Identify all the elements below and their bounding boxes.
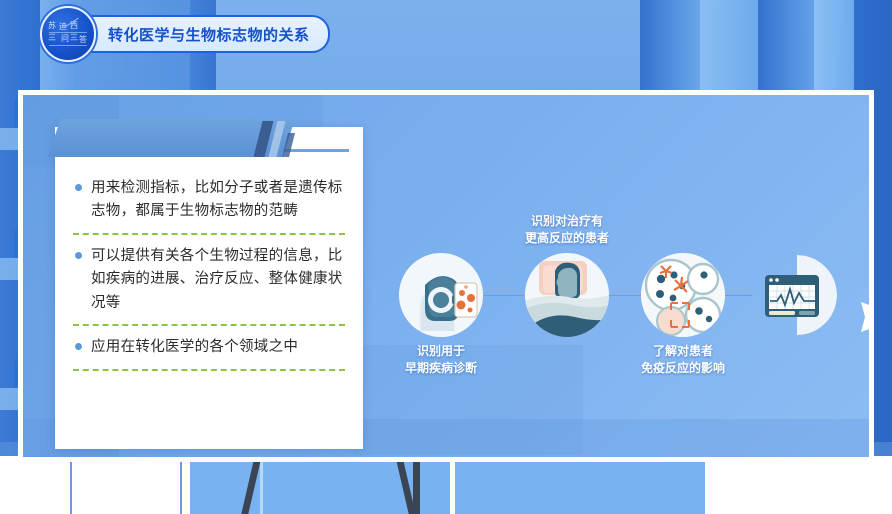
header-bar: 苏 迪 西 三 问 三 答 转化医学与生物标志物的关系 xyxy=(40,14,330,54)
list-item: 用来检测指标，比如分子或者是遗传标志物，都属于生物标志物的范畴 xyxy=(71,167,347,233)
easel-leg-center xyxy=(413,456,420,514)
brand-logo-icon: 苏 迪 西 三 问 三 答 xyxy=(40,6,96,62)
logo-glyph-group: 苏 迪 西 三 问 三 答 xyxy=(48,21,88,47)
bullet-dot-icon xyxy=(75,252,82,259)
slide-canvas: 苏 迪 西 三 问 三 答 转化医学与生物标志物的关系 xyxy=(0,0,892,514)
page-title: 转化医学与生物标志物的关系 xyxy=(108,24,310,45)
patient-bed-svg xyxy=(525,253,609,337)
slide-title-pill: 转化医学与生物标志物的关系 xyxy=(74,15,330,53)
head-scan-svg xyxy=(399,253,483,337)
logo-char-0: 苏 xyxy=(48,22,56,30)
logo-char-4: 问 xyxy=(61,35,69,43)
immune-cells-svg xyxy=(641,253,725,337)
floor-tile-2 xyxy=(180,456,182,514)
bullet-dot-icon xyxy=(75,184,82,191)
floor-block-3 xyxy=(260,456,263,514)
bullet-dot-icon xyxy=(75,343,82,350)
patient-in-bed-icon xyxy=(525,253,609,337)
bullet-text: 应用在转化医学的各个领域之中 xyxy=(91,336,298,359)
bullet-text: 用来检测指标，比如分子或者是遗传标志物，都属于生物标志物的范畴 xyxy=(91,177,347,224)
floor-tile-1 xyxy=(70,456,72,514)
immune-cells-icon xyxy=(641,253,725,337)
bullet-text: 可以提供有关各个生物过程的信息，比如疾病的进展、治疗反应、整体健康状况等 xyxy=(91,245,347,315)
logo-char-3: 三 xyxy=(48,34,56,42)
monitor-ecg-icon xyxy=(757,255,837,335)
illustration-label-0: 识别用于 早期疾病诊断 xyxy=(387,343,495,378)
monitor-ecg-svg xyxy=(757,255,837,335)
illustration-label-2: 了解对患者 免疫反应的影响 xyxy=(625,343,741,378)
list-item: 应用在转化医学的各个领域之中 xyxy=(71,326,347,368)
divider-3 xyxy=(73,369,345,371)
floor-block-2 xyxy=(455,456,705,514)
logo-rule-2 xyxy=(49,45,87,46)
card-body: 用来检测指标，比如分子或者是遗传标志物，都属于生物标志物的范畴 可以提供有关各个… xyxy=(55,167,363,449)
card-header-tail xyxy=(283,149,349,152)
list-item: 可以提供有关各个生物过程的信息，比如疾病的进展、治疗反应、整体健康状况等 xyxy=(71,235,347,324)
illustration-row: 识别用于 早期疾病诊断 识别对治疗有 更高反应的患者 xyxy=(385,205,855,385)
illustration-label-1: 识别对治疗有 更高反应的患者 xyxy=(509,213,625,248)
biomarker-card: 生物标志物 用来检测指标，比如分子或者是遗传标志物，都属于生物标志物的范畴 可以… xyxy=(55,127,363,449)
head-scan-tablet-icon xyxy=(399,253,483,337)
